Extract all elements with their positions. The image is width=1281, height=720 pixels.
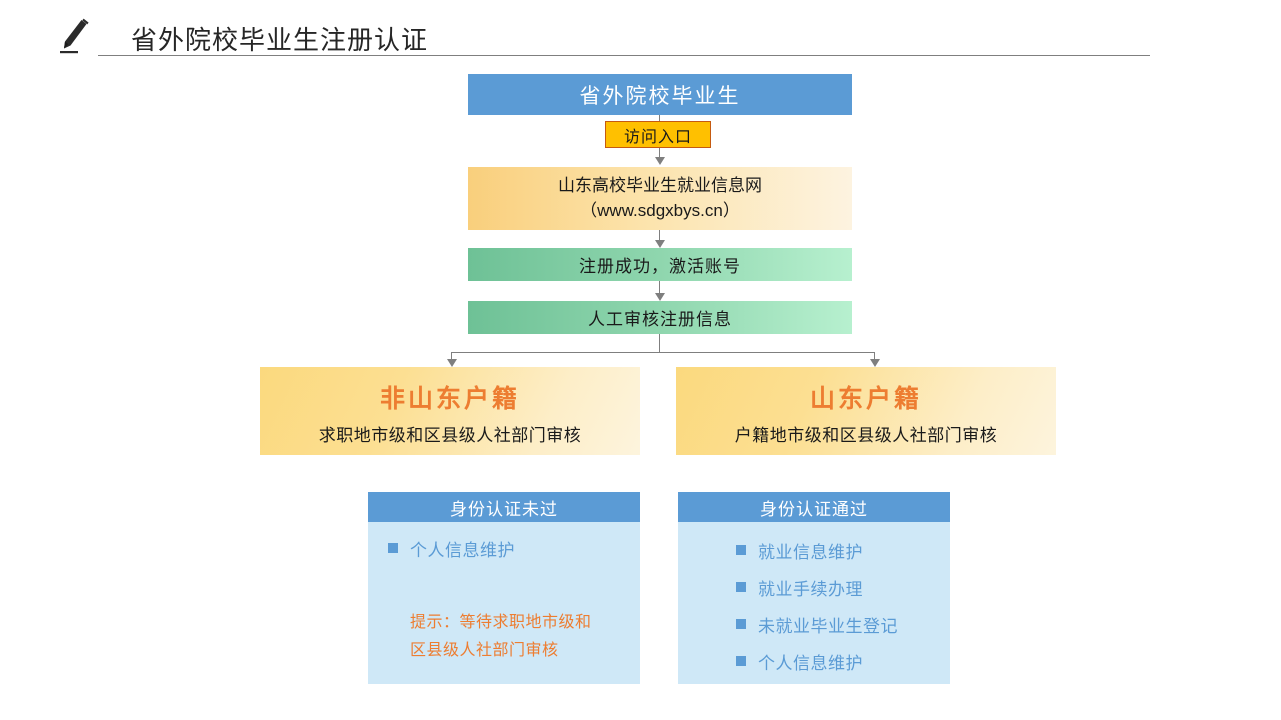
- note-line-2: 区县级人社部门审核: [410, 637, 630, 665]
- connector-branch-bar: [451, 352, 875, 353]
- list-item[interactable]: 个人信息维护: [368, 536, 640, 561]
- arrowhead-to-register: [655, 240, 665, 248]
- panel-header-passed: 身份认证通过: [678, 492, 950, 522]
- website-url: （www.sdgxbys.cn）: [580, 199, 740, 224]
- connector-review-stem: [659, 334, 660, 353]
- node-shandong-household: 山东户籍 户籍地市级和区县级人社部门审核: [676, 367, 1056, 455]
- node-register-success: 注册成功，激活账号: [468, 248, 852, 281]
- list-item-label: 个人信息维护: [758, 649, 863, 674]
- branch-title-sd: 山东户籍: [810, 379, 922, 415]
- list-item[interactable]: 就业信息维护: [678, 538, 950, 563]
- list-item-label: 个人信息维护: [410, 536, 515, 561]
- list-item-label: 就业手续办理: [758, 575, 863, 600]
- panel-header-failed: 身份认证未过: [368, 492, 640, 522]
- page-title: 省外院校毕业生注册认证: [131, 20, 428, 57]
- website-name: 山东高校毕业生就业信息网: [558, 174, 762, 199]
- node-manual-review: 人工审核注册信息: [468, 301, 852, 334]
- connector-register-to-review: [659, 281, 660, 293]
- note-line-1: 提示：等待求职地市级和: [410, 609, 630, 637]
- arrowhead-to-review: [655, 293, 665, 301]
- panel-identity-verification-failed: 身份认证未过 个人信息维护 提示：等待求职地市级和 区县级人社部门审核: [368, 492, 640, 684]
- arrowhead-to-sd: [870, 359, 880, 367]
- list-item-label: 就业信息维护: [758, 538, 863, 563]
- node-graduate: 省外院校毕业生: [468, 74, 852, 115]
- pencil-icon: [56, 18, 90, 58]
- spacer: [368, 575, 640, 609]
- header-divider: [98, 55, 1150, 56]
- list-item[interactable]: 未就业毕业生登记: [678, 612, 950, 637]
- arrowhead-to-website: [655, 157, 665, 165]
- bullet-square-icon: [736, 656, 746, 666]
- panel-body-failed: 个人信息维护 提示：等待求职地市级和 区县级人社部门审核: [368, 522, 640, 684]
- bullet-square-icon: [736, 582, 746, 592]
- branch-subtitle-nonsd: 求职地市级和区县级人社部门审核: [319, 421, 582, 446]
- arrowhead-to-nonsd: [447, 359, 457, 367]
- panel-body-passed: 就业信息维护 就业手续办理 未就业毕业生登记 个人信息维护: [678, 522, 950, 684]
- label-access-entry: 访问入口: [605, 121, 711, 148]
- node-non-shandong-household: 非山东户籍 求职地市级和区县级人社部门审核: [260, 367, 640, 455]
- connector-website-to-register: [659, 230, 660, 240]
- branch-title-nonsd: 非山东户籍: [380, 379, 520, 415]
- panel-note-failed: 提示：等待求职地市级和 区县级人社部门审核: [368, 609, 640, 665]
- node-website: 山东高校毕业生就业信息网 （www.sdgxbys.cn）: [468, 167, 852, 230]
- list-item[interactable]: 就业手续办理: [678, 575, 950, 600]
- branch-subtitle-sd: 户籍地市级和区县级人社部门审核: [735, 421, 998, 446]
- bullet-square-icon: [388, 543, 398, 553]
- panel-identity-verification-passed: 身份认证通过 就业信息维护 就业手续办理 未就业毕业生登记 个人信息维护: [678, 492, 950, 684]
- list-item[interactable]: 个人信息维护: [678, 649, 950, 674]
- page-header: 省外院校毕业生注册认证: [0, 0, 1281, 70]
- list-item-label: 未就业毕业生登记: [758, 612, 898, 637]
- bullet-square-icon: [736, 619, 746, 629]
- bullet-square-icon: [736, 545, 746, 555]
